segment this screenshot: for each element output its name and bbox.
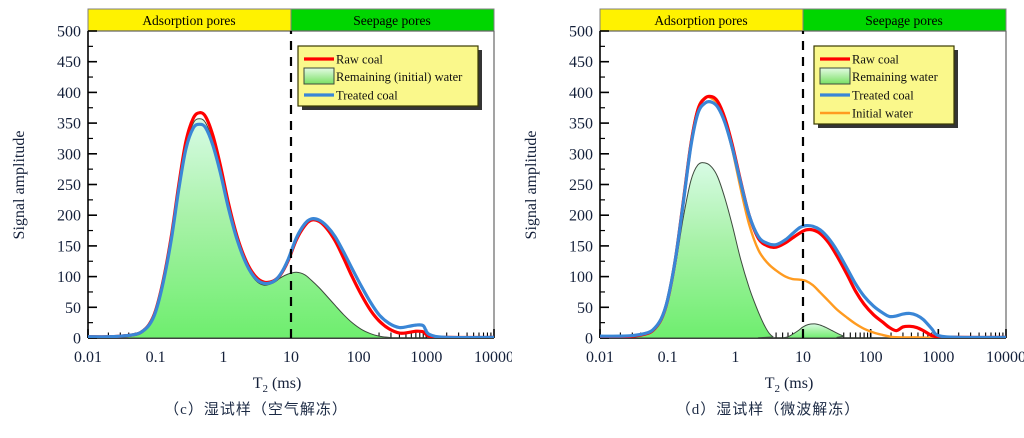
y-tick-label: 200: [569, 208, 593, 225]
legend-c[interactable]: Raw coal Remaining (initial) water Treat…: [298, 46, 482, 110]
y-tick-label: 350: [569, 116, 593, 133]
x-tick-label: 10000: [474, 349, 512, 366]
plot-c: Adsorption pores Seepage pores 050100150…: [0, 0, 512, 396]
y-tick-label: 100: [569, 269, 593, 286]
y-tick-label: 450: [569, 54, 593, 71]
y-tick-label: 50: [65, 300, 81, 317]
legend-label-treated-coal-c: Treated coal: [336, 89, 398, 103]
y-tick-label: 400: [569, 85, 593, 102]
legend-label-raw-coal-c: Raw coal: [336, 53, 383, 67]
y-tick-label: 50: [577, 300, 593, 317]
x-tick-label: 10000: [986, 349, 1024, 366]
y-tick-label: 300: [569, 146, 593, 163]
legend-d[interactable]: Raw coal Remaining water Treated coal In…: [814, 46, 958, 128]
x-tick-label: 0.01: [586, 349, 614, 366]
figure-container: Adsorption pores Seepage pores 050100150…: [0, 0, 1024, 438]
y-tick-label: 150: [57, 238, 81, 255]
x-tick-label: 1: [731, 349, 739, 366]
y-axis-title-d: Signal amplitude: [523, 131, 540, 240]
y-tick-label: 150: [569, 238, 593, 255]
adsorption-pores-label: Adsorption pores: [654, 13, 747, 28]
x-tick-label: 1000: [410, 349, 442, 366]
y-tick-label: 500: [569, 24, 593, 41]
seepage-pores-label: Seepage pores: [353, 13, 431, 28]
y-tick-label: 450: [57, 54, 81, 71]
svg-text:T2 (ms): T2 (ms): [253, 375, 302, 395]
x-tick-label: 10: [795, 349, 811, 366]
legend-item-remaining-water-d[interactable]: Remaining water: [820, 68, 939, 84]
panel-c: Adsorption pores Seepage pores 050100150…: [0, 0, 512, 438]
panel-d: Adsorption pores Seepage pores 050100150…: [512, 0, 1024, 438]
adsorption-pores-label: Adsorption pores: [142, 13, 235, 28]
x-axis-title-d: T2 (ms): [765, 375, 814, 395]
x-tick-label: 0.1: [146, 349, 166, 366]
x-tick-label: 1000: [922, 349, 954, 366]
legend-item-remaining-water-c[interactable]: Remaining (initial) water: [304, 68, 463, 84]
legend-label-raw-coal-d: Raw coal: [852, 53, 899, 67]
y-tick-label: 0: [73, 331, 81, 348]
x-tick-label: 1: [219, 349, 227, 366]
legend-label-remaining-water-c: Remaining (initial) water: [336, 70, 463, 84]
seepage-pores-label: Seepage pores: [865, 13, 943, 28]
pore-band-header-c: Adsorption pores Seepage pores: [88, 9, 494, 31]
y-tick-label: 0: [585, 331, 593, 348]
y-tick-label: 500: [57, 24, 81, 41]
x-tick-label: 0.1: [658, 349, 678, 366]
x-tick-label: 100: [859, 349, 883, 366]
svg-text:T2 (ms): T2 (ms): [765, 375, 814, 395]
plot-d: Adsorption pores Seepage pores 050100150…: [512, 0, 1024, 396]
legend-label-remaining-water-d: Remaining water: [852, 70, 939, 84]
pore-band-header-d: Adsorption pores Seepage pores: [600, 9, 1006, 31]
x-tick-label: 0.01: [74, 349, 102, 366]
y-tick-label: 400: [57, 85, 81, 102]
panel-caption-c: （c）湿试样（空气解冻）: [0, 398, 512, 419]
y-tick-label: 250: [569, 177, 593, 194]
x-tick-label: 10: [283, 349, 299, 366]
y-tick-label: 350: [57, 116, 81, 133]
y-tick-label: 100: [57, 269, 81, 286]
x-axis-title-c: T2 (ms): [253, 375, 302, 395]
y-tick-label: 300: [57, 146, 81, 163]
panel-caption-d: （d）湿试样（微波解冻）: [512, 398, 1024, 419]
y-tick-label: 250: [57, 177, 81, 194]
y-axis-title-c: Signal amplitude: [11, 131, 28, 240]
y-tick-label: 200: [57, 208, 81, 225]
legend-label-treated-coal-d: Treated coal: [852, 89, 914, 103]
x-tick-label: 100: [347, 349, 371, 366]
legend-label-initial-water-d: Initial water: [852, 107, 914, 121]
